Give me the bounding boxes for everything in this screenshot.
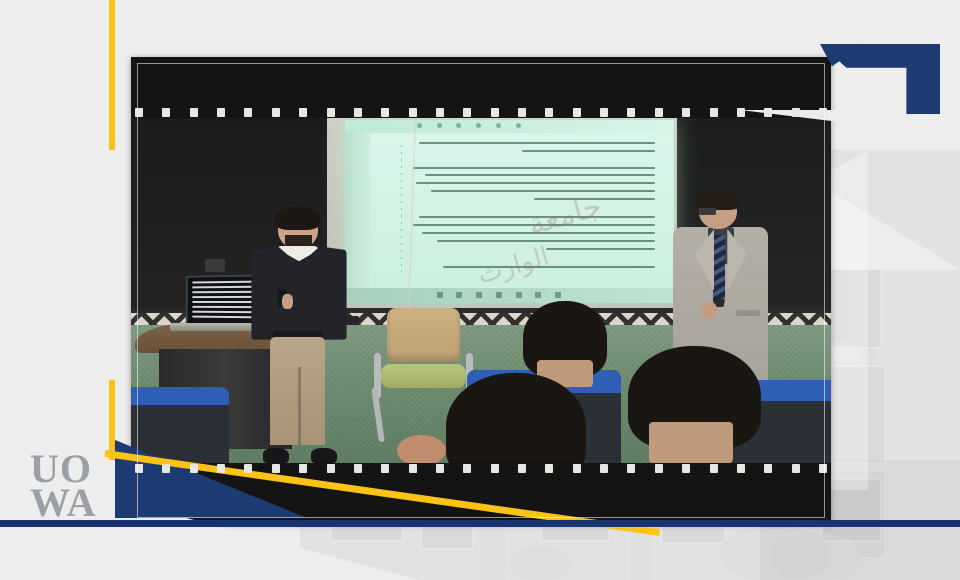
sprocket-hole — [162, 464, 170, 473]
sprocket-hole — [135, 108, 143, 117]
sprocket-hole — [327, 108, 335, 117]
chair-backrest — [387, 308, 460, 362]
decor-yellow-bar-left — [109, 380, 115, 460]
sprocket-hole — [463, 464, 471, 473]
sprocket-hole — [518, 108, 526, 117]
sprocket-hole — [627, 464, 635, 473]
sprocket-hole — [764, 464, 772, 473]
sprocket-hole — [682, 464, 690, 473]
sprocket-hole — [573, 108, 581, 117]
audience-hand — [397, 435, 446, 463]
sprocket-hole — [135, 464, 143, 473]
sprocket-hole — [682, 108, 690, 117]
sprocket-hole — [792, 464, 800, 473]
sprocket-hole — [655, 108, 663, 117]
presenter-left — [240, 211, 359, 463]
sprocket-hole — [327, 464, 335, 473]
sprocket-hole — [272, 108, 280, 117]
sprocket-hole — [436, 464, 444, 473]
sprocket-hole — [600, 464, 608, 473]
sprocket-hole — [244, 108, 252, 117]
sprocket-hole — [764, 108, 772, 117]
decor-navy-chevron-tail — [820, 44, 940, 114]
document-ruler — [401, 145, 402, 272]
sprocket-hole — [272, 464, 280, 473]
sprocket-hole — [737, 108, 745, 117]
sprocket-hole — [710, 108, 718, 117]
audience-neck — [649, 422, 733, 463]
sprocket-hole — [491, 464, 499, 473]
sprocket-hole — [710, 464, 718, 473]
sprocket-hole — [190, 464, 198, 473]
sprocket-hole — [354, 464, 362, 473]
sprocket-hole — [354, 108, 362, 117]
poster-canvas: جامعة الوارث — [0, 0, 960, 580]
logo-text-bottom: WA — [30, 486, 120, 520]
sprocket-hole — [217, 464, 225, 473]
uowa-logo[interactable]: UO WA — [30, 452, 120, 526]
sprocket-hole — [737, 464, 745, 473]
sprocket-hole — [381, 108, 389, 117]
eyeglasses-icon — [699, 208, 716, 214]
presenter-right-tie — [713, 235, 725, 305]
chair-seat — [381, 364, 466, 388]
document-watermark-2: الوارث — [474, 241, 552, 290]
sprocket-hole — [217, 108, 225, 117]
sprocket-hole — [819, 108, 827, 117]
audience-seat — [131, 387, 229, 463]
sprocket-hole — [190, 108, 198, 117]
sprocket-hole — [409, 464, 417, 473]
film-sprockets-top — [131, 108, 831, 117]
sprocket-hole — [545, 108, 553, 117]
sprocket-hole — [299, 464, 307, 473]
sprocket-hole — [819, 464, 827, 473]
sprocket-hole — [627, 108, 635, 117]
sprocket-hole — [792, 108, 800, 117]
sprocket-hole — [573, 464, 581, 473]
sprocket-hole — [244, 464, 252, 473]
decor-navy-chevron — [820, 44, 940, 114]
presenter-left-hair — [275, 207, 320, 230]
sprocket-hole — [518, 464, 526, 473]
word-ribbon — [345, 120, 674, 133]
sprocket-hole — [655, 464, 663, 473]
windows-taskbar — [345, 288, 674, 303]
sprocket-hole — [463, 108, 471, 117]
sprocket-hole — [491, 108, 499, 117]
film-sprockets-bottom — [131, 464, 831, 473]
projection-screen: جامعة الوارث — [345, 120, 674, 303]
sprocket-hole — [299, 108, 307, 117]
event-photo: جامعة الوارث — [131, 57, 831, 524]
audience-head — [446, 373, 586, 463]
sprocket-hole — [600, 108, 608, 117]
sprocket-hole — [545, 464, 553, 473]
projector-device — [205, 259, 225, 272]
sprocket-hole — [436, 108, 444, 117]
document-watermark: جامعة — [525, 188, 606, 242]
sprocket-hole — [409, 108, 417, 117]
sprocket-hole — [162, 108, 170, 117]
photo-scene: جامعة الوارث — [131, 118, 831, 463]
sprocket-hole — [381, 464, 389, 473]
document-page: جامعة الوارث — [371, 133, 674, 288]
decor-yellow-bar-top — [109, 0, 115, 150]
